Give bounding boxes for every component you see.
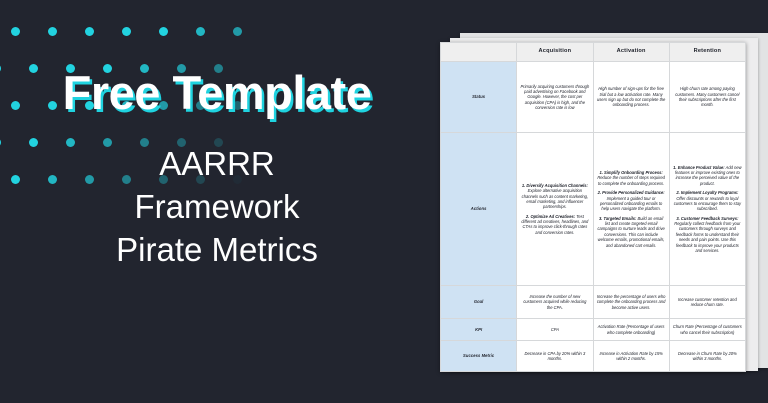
cell-actions-retention: 1. Enhance Product Value: Add new featur… — [669, 133, 745, 286]
aarrr-framework-table-card[interactable]: Acquisition Activation Retention Status … — [440, 42, 746, 372]
cell-success-metric-retention: Decrease in Churn Rate by 20% within 3 m… — [669, 341, 745, 372]
cell-actions-activation: 1. Simplify Onboarding Process: Reduce t… — [593, 133, 669, 286]
table-row: Success Metric Decrease in CPA by 20% wi… — [441, 341, 746, 372]
promo-banner: Free Template AARRR Framework Pirate Met… — [0, 0, 768, 403]
cell-status-activation: High number of sign-ups for the free tri… — [593, 62, 669, 133]
cell-kpi-acquisition: CPA — [517, 319, 593, 341]
row-label-success-metric: Success Metric — [441, 341, 517, 372]
page-title: Free Template — [0, 68, 434, 117]
hero-text-block: Free Template AARRR Framework Pirate Met… — [0, 68, 434, 272]
decorative-dot — [233, 27, 242, 36]
cell-goal-activation: Increase the percentage of users who com… — [593, 286, 669, 319]
row-label-status: Status — [441, 62, 517, 133]
decorative-dot — [48, 27, 57, 36]
decorative-dot — [122, 27, 131, 36]
cell-status-acquisition: Primarily acquiring customers through pa… — [517, 62, 593, 133]
cell-kpi-activation: Activation Rate (Percentage of users who… — [593, 319, 669, 341]
row-label-goal: Goal — [441, 286, 517, 319]
cell-success-metric-acquisition: Decrease in CPA by 20% within 3 months. — [517, 341, 593, 372]
column-header-retention: Retention — [669, 43, 745, 62]
row-label-actions: Actions — [441, 133, 517, 286]
cell-success-metric-activation: Increase in Activation Rate by 15% withi… — [593, 341, 669, 372]
hero-subtitle-line-1: AARRR — [0, 143, 434, 186]
row-label-kpi: KPI — [441, 319, 517, 341]
column-header-activation: Activation — [593, 43, 669, 62]
cell-goal-retention: Increase customer retention and reduce c… — [669, 286, 745, 319]
decorative-dot — [85, 27, 94, 36]
table-row: KPI CPA Activation Rate (Percentage of u… — [441, 319, 746, 341]
aarrr-table: Acquisition Activation Retention Status … — [440, 42, 746, 372]
decorative-dot — [159, 27, 168, 36]
hero-subtitle-line-2: Framework — [0, 186, 434, 229]
cell-kpi-retention: Churn Rate (Percentage of customers who … — [669, 319, 745, 341]
hero-subtitle-line-3: Pirate Metrics — [0, 229, 434, 272]
decorative-dot — [11, 27, 20, 36]
table-row: Goal Increase the number of new customer… — [441, 286, 746, 319]
column-header-acquisition: Acquisition — [517, 43, 593, 62]
table-row: Actions 1. Diversify Acquisition Channel… — [441, 133, 746, 286]
cell-goal-acquisition: Increase the number of new customers acq… — [517, 286, 593, 319]
table-row: Status Primarily acquiring customers thr… — [441, 62, 746, 133]
hero-subtitle: AARRR Framework Pirate Metrics — [0, 143, 434, 272]
cell-status-retention: High churn rate among paying customers. … — [669, 62, 745, 133]
decorative-dot — [196, 27, 205, 36]
table-corner-cell — [441, 43, 517, 62]
table-header-row: Acquisition Activation Retention — [441, 43, 746, 62]
cell-actions-acquisition: 1. Diversify Acquisition Channels: Explo… — [517, 133, 593, 286]
